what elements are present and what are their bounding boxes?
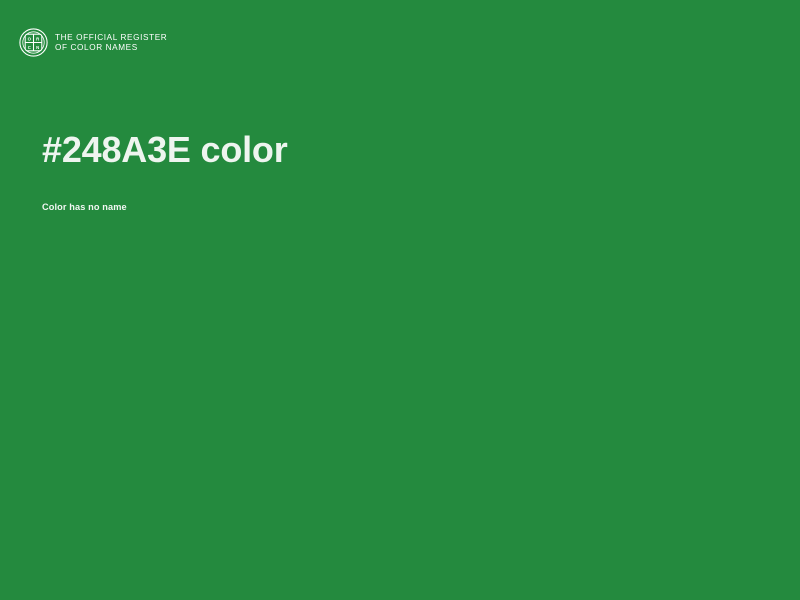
svg-text:O: O <box>28 37 32 42</box>
svg-text:N: N <box>36 45 39 50</box>
page-title: #248A3E color <box>42 128 760 172</box>
brand-wordmark-line-1: THE OFFICIAL REGISTER <box>55 33 167 44</box>
brand-logo[interactable]: O R C N THE OFFICIAL REGISTER OF COLOR N… <box>19 28 167 57</box>
svg-text:R: R <box>36 37 40 42</box>
brand-wordmark-line-2: OF COLOR NAMES <box>55 43 167 54</box>
color-page: O R C N THE OFFICIAL REGISTER OF COLOR N… <box>0 0 800 600</box>
brand-wordmark: THE OFFICIAL REGISTER OF COLOR NAMES <box>55 32 167 54</box>
color-name-status: Color has no name <box>42 172 760 213</box>
svg-text:C: C <box>28 45 31 50</box>
register-seal-icon: O R C N <box>19 28 48 57</box>
main-content: #248A3E color Color has no name <box>42 128 760 213</box>
